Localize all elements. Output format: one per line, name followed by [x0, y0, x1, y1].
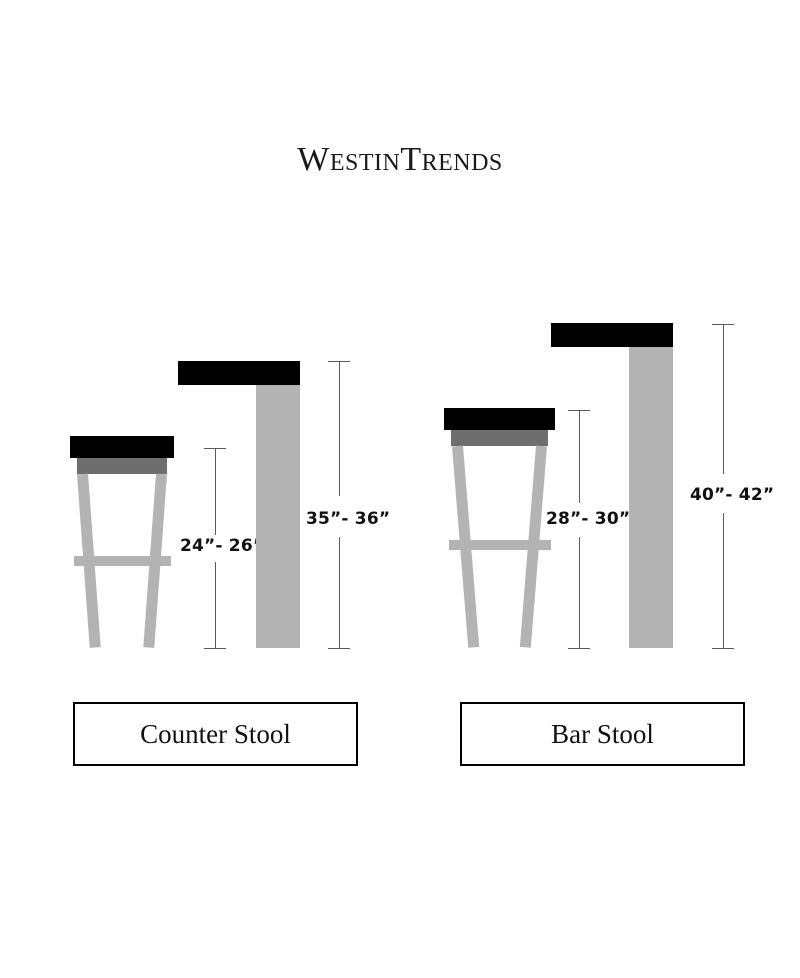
caption-box-counter-stool: Counter Stool: [73, 702, 358, 766]
bar-table-top: [551, 323, 673, 347]
infographic-page: WestinTrends 24”- 26”: [0, 0, 800, 978]
counter-stool-seat-top: [70, 436, 174, 458]
bar-stool-dimension-cap-bottom: [568, 648, 590, 649]
counter-stool-stretcher: [74, 556, 171, 566]
bar-table-dimension-label: 40”- 42”: [690, 485, 774, 505]
counter-table-dimension-line-upper: [339, 361, 340, 496]
height-comparison-diagram: 24”- 26” 35”- 36”: [0, 0, 800, 978]
counter-stool-dimension-line-upper: [215, 448, 216, 535]
bar-table-dimension-line-lower: [723, 513, 724, 648]
caption-label-bar-stool: Bar Stool: [551, 719, 654, 749]
caption-label-counter-stool: Counter Stool: [140, 719, 291, 749]
counter-stool-dimension-line-lower: [215, 562, 216, 648]
counter-table-dimension-label: 35”- 36”: [306, 509, 390, 529]
bar-stool-dimension-line-upper: [579, 410, 580, 503]
counter-table-column: [256, 385, 300, 648]
counter-table-top: [178, 361, 300, 385]
counter-table-dimension-line-lower: [339, 537, 340, 648]
bar-stool-seat-apron: [451, 430, 548, 446]
caption-box-bar-stool: Bar Stool: [460, 702, 745, 766]
bar-stool-dimension-label: 28”- 30”: [546, 509, 630, 529]
bar-stool-stretcher: [449, 540, 551, 550]
bar-stool-dimension-line-lower: [579, 537, 580, 648]
counter-stool-dimension-cap-bottom: [204, 648, 226, 649]
counter-stool-seat-apron: [77, 458, 167, 474]
bar-table-dimension-cap-bottom: [712, 648, 734, 649]
bar-table-dimension-line-upper: [723, 324, 724, 474]
bar-stool-seat-top: [444, 408, 555, 430]
bar-table-column: [629, 347, 673, 648]
counter-table-dimension-cap-bottom: [328, 648, 350, 649]
counter-stool-dimension-label: 24”- 26”: [180, 536, 264, 556]
